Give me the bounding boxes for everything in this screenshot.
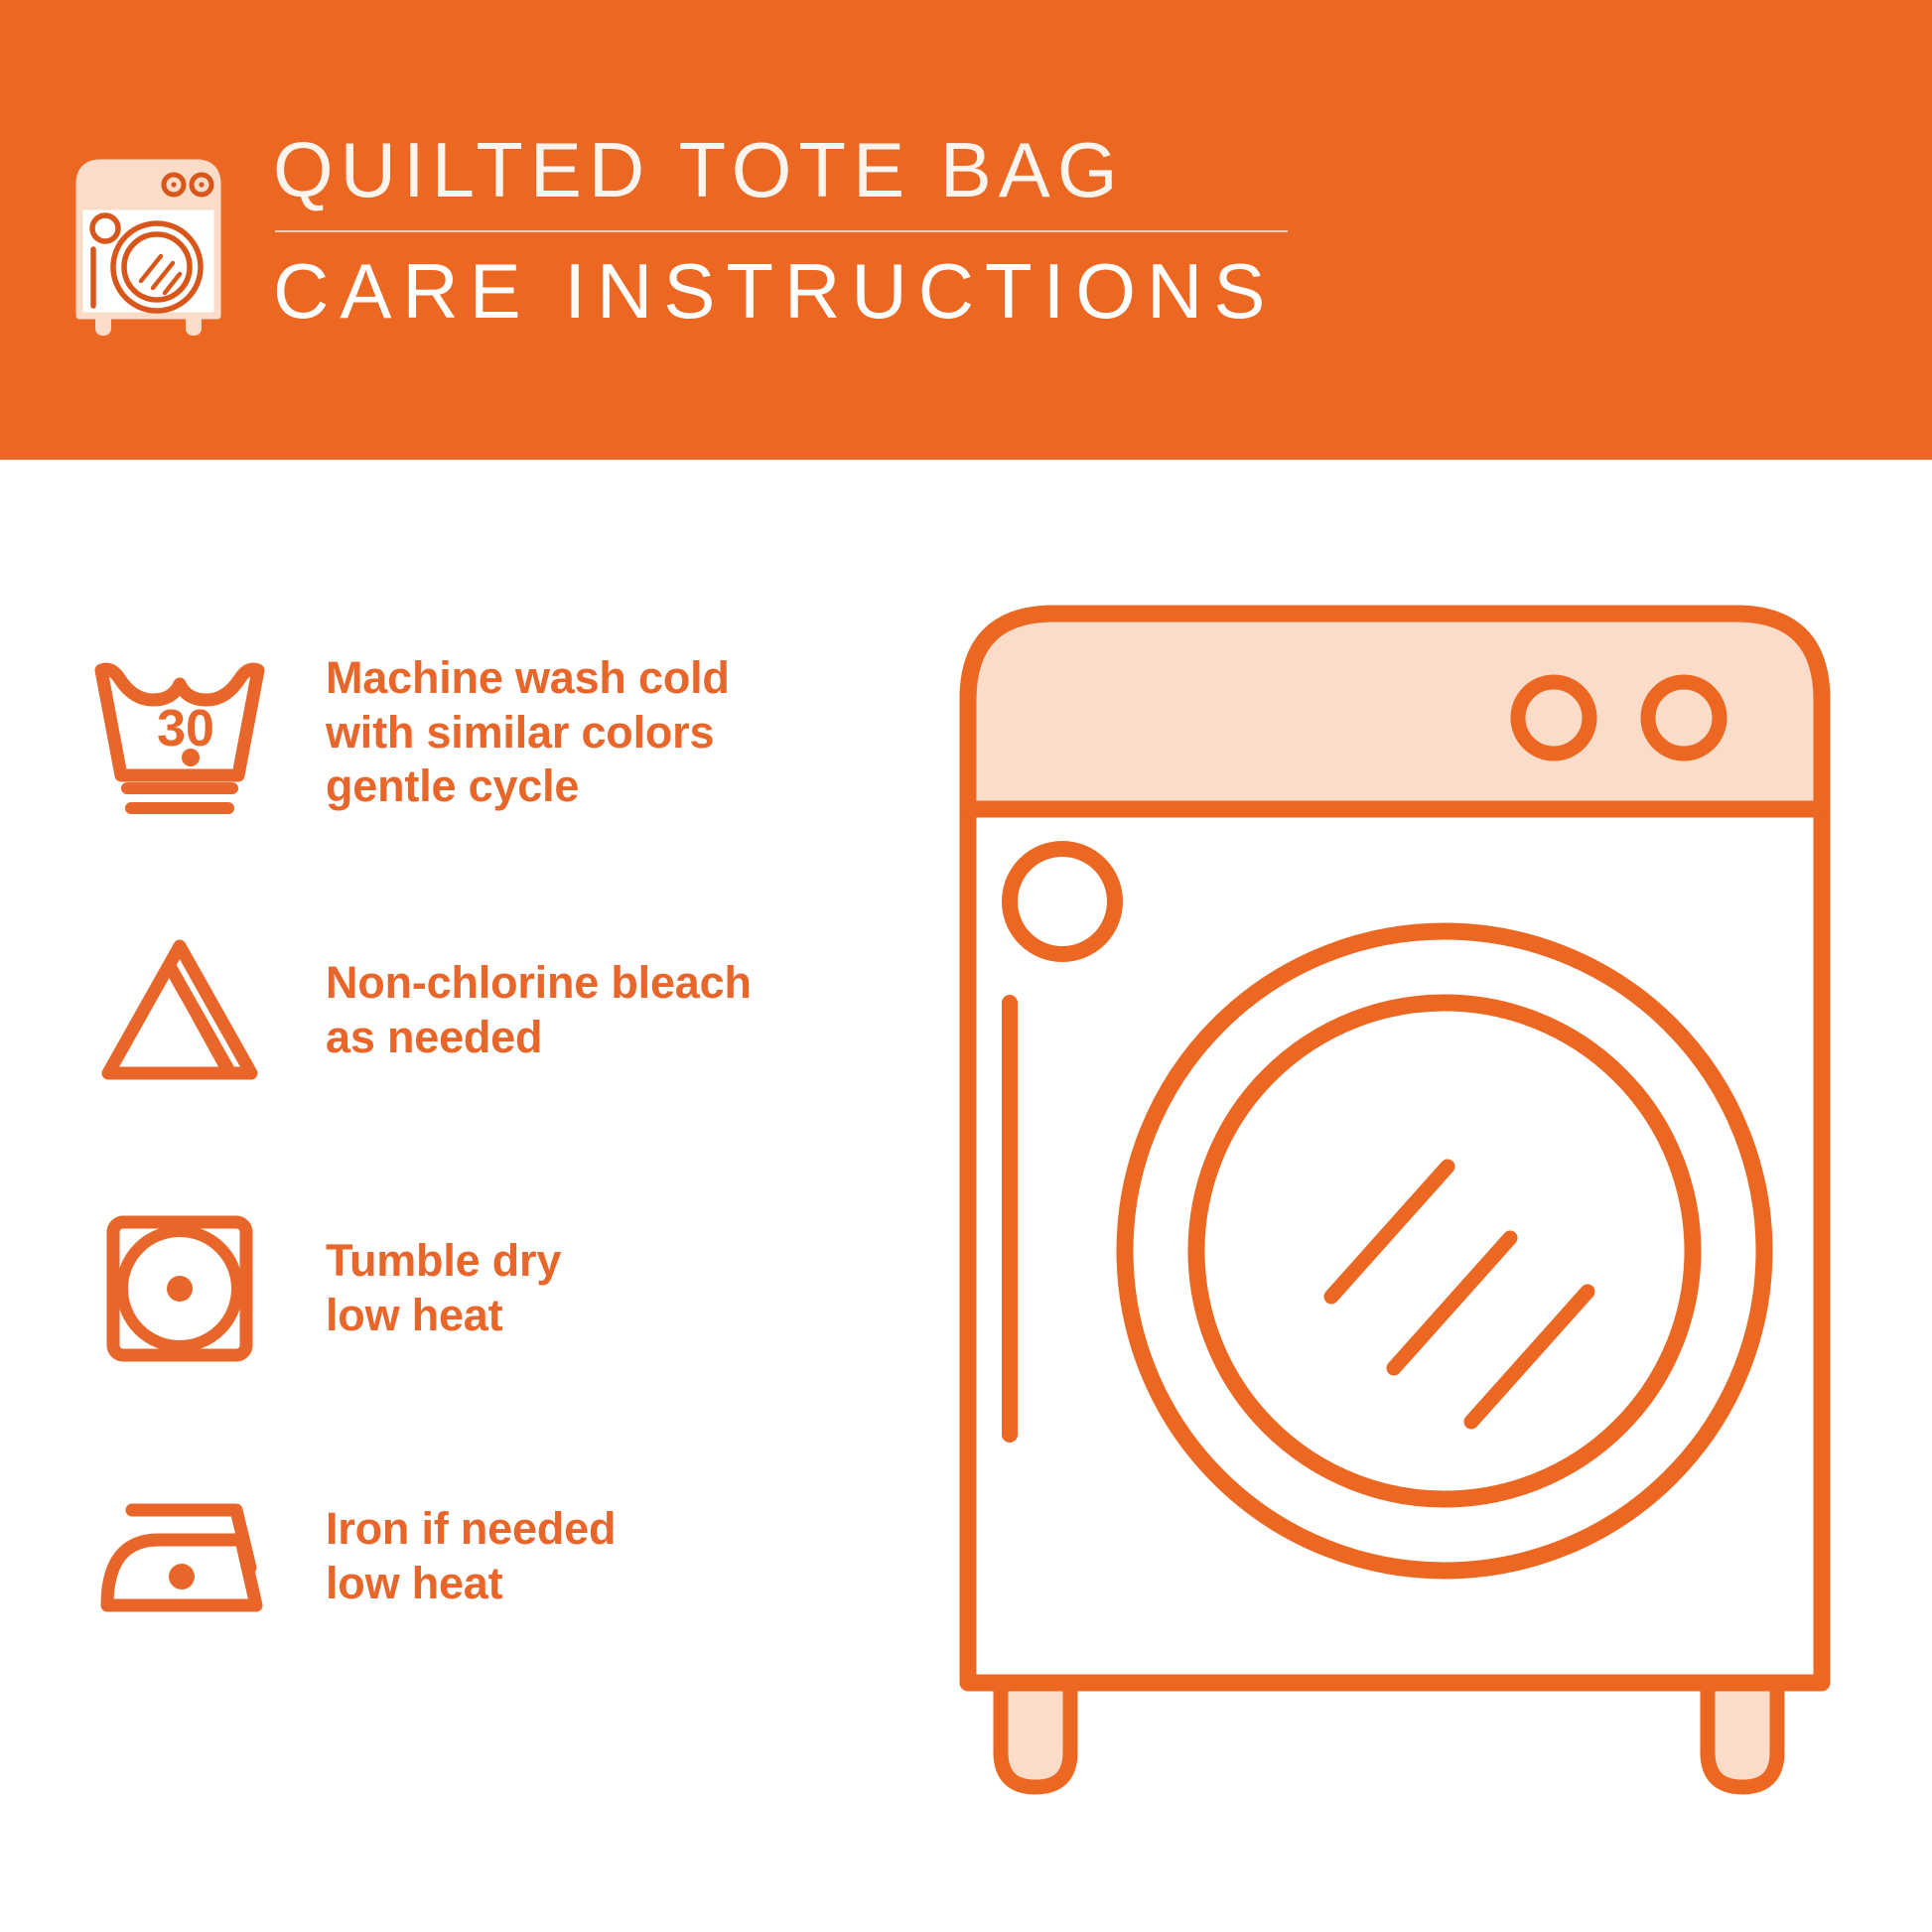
care-item-bleach: Non-chlorine bleach as needed [85,916,959,1105]
care-instructions-page: QUILTED TOTE BAG CARE INSTRUCTIONS 30 [0,0,1932,1932]
care-item-label: Machine wash cold with similar colors ge… [326,651,730,815]
header-banner: QUILTED TOTE BAG CARE INSTRUCTIONS [0,0,1932,460]
header-titles: QUILTED TOTE BAG CARE INSTRUCTIONS [273,127,1288,330]
care-item-iron: Iron if needed low heat [85,1462,959,1651]
washing-machine-icon [71,149,225,336]
page-title: QUILTED TOTE BAG [273,131,1288,208]
care-item-label: Non-chlorine bleach as needed [326,956,752,1065]
page-subtitle: CARE INSTRUCTIONS [273,252,1288,330]
care-item-machine-wash: 30 Machine wash cold with similar colors… [85,638,959,827]
care-item-tumble-dry: Tumble dry low heat [85,1194,959,1383]
control-knob-2 [1648,682,1720,754]
wash-tub-30-gentle-icon: 30 [85,638,274,827]
tumble-dry-low-heat-icon [85,1194,274,1383]
iron-low-heat-icon [85,1462,274,1651]
care-item-label: Iron if needed low heat [326,1502,616,1611]
header-content: QUILTED TOTE BAG CARE INSTRUCTIONS [71,127,1288,336]
wash-temperature-label: 30 [157,700,214,758]
care-item-label: Tumble dry low heat [326,1234,561,1343]
non-chlorine-bleach-triangle-icon [85,916,274,1105]
control-knob-1 [1518,682,1589,754]
washing-machine-illustration [953,596,1866,1857]
title-divider [275,230,1288,232]
care-instruction-list: 30 Machine wash cold with similar colors… [0,460,973,1932]
